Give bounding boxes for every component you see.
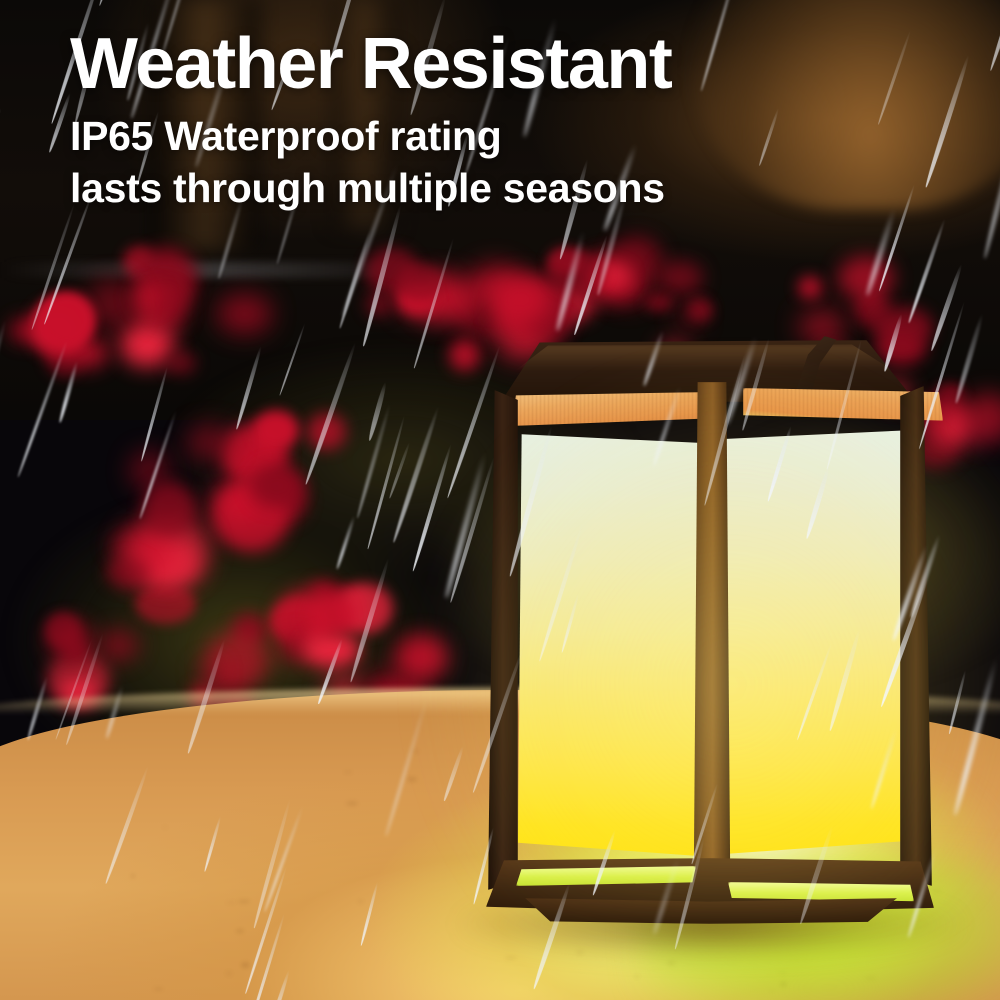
grain-speck (412, 749, 419, 754)
flower-blob (309, 594, 354, 635)
subheadline: IP65 Waterproof rating lasts through mul… (70, 110, 950, 215)
flower-blob (142, 482, 196, 536)
flower-blob (250, 464, 303, 508)
flower-blob (45, 612, 81, 648)
flower-blob (99, 630, 139, 661)
flower-blob (197, 662, 221, 680)
grain-speck (236, 929, 244, 933)
accent-bar-left (512, 392, 707, 426)
marketing-banner: Weather Resistant IP65 Waterproof rating… (0, 0, 1000, 1000)
flower-blob (366, 293, 392, 316)
flower-blob (133, 287, 160, 307)
lantern-foot (500, 898, 918, 924)
frame-post-right (900, 386, 932, 886)
subline-2: lasts through multiple seasons (70, 162, 950, 214)
flower-blob (217, 294, 272, 335)
flower-blob (303, 632, 361, 668)
copy-block: Weather Resistant IP65 Waterproof rating… (70, 28, 950, 215)
flower-blob (205, 633, 269, 689)
headline: Weather Resistant (70, 28, 950, 100)
glass-panel-left (518, 430, 700, 860)
flower-blob (307, 413, 346, 451)
flower-blob (106, 557, 150, 588)
flower-blob (657, 261, 703, 294)
frame-post-left (488, 390, 518, 890)
grain-speck (131, 874, 135, 878)
frame-post-center (692, 382, 732, 902)
grain-speck (358, 900, 363, 903)
lantern-product (470, 330, 940, 910)
grain-speck (241, 962, 250, 968)
glass-panel-right (724, 426, 910, 858)
flower-blob (187, 425, 234, 460)
flower-blob (547, 251, 607, 295)
flower-blob (678, 307, 699, 328)
accent-mesh-left (512, 392, 707, 426)
flower-blob (37, 291, 96, 348)
flower-blob (838, 256, 894, 301)
grain-speck (226, 901, 236, 904)
subline-1: IP65 Waterproof rating (70, 110, 950, 162)
flower-blob (253, 410, 299, 450)
roof-sheen (500, 344, 900, 370)
flower-blob (395, 634, 449, 681)
flower-blob (166, 351, 196, 375)
